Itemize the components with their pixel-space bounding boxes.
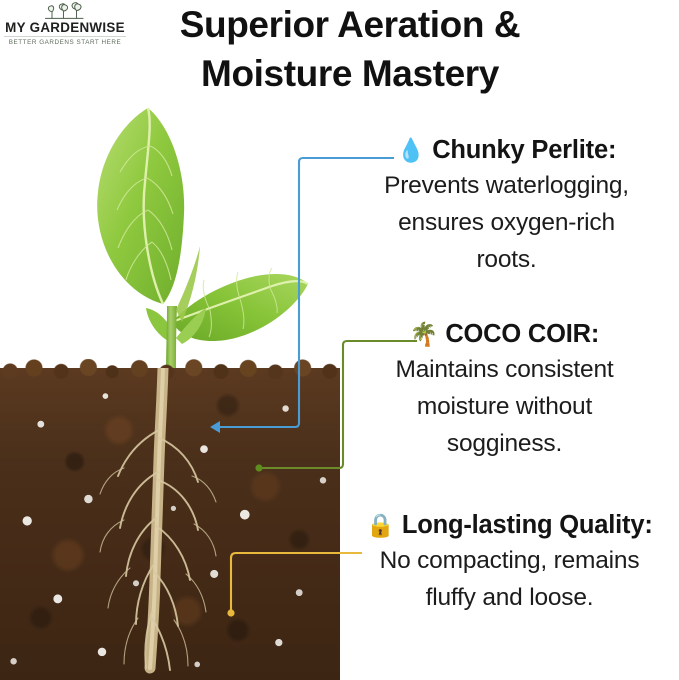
brand-logo: MY GARDENWISE BETTER GARDENS START HERE [4,2,126,44]
feature-heading-row: 💧 Chunky Perlite: [334,134,679,167]
feature-body-line: fluffy and loose. [340,579,679,616]
feature-body-line: ensures oxygen-rich [334,204,679,241]
feature-body: No compacting, remains fluffy and loose. [340,542,679,616]
feature-body-line: sogginess. [330,425,679,462]
feature-body: Prevents waterlogging, ensures oxygen-ri… [334,167,679,278]
feature-body: Maintains consistent moisture without so… [330,351,679,462]
logo-divider [4,36,126,37]
feature-heading-row: 🔒 Long-lasting Quality: [340,509,679,542]
feature-body-line: No compacting, remains [340,542,679,579]
feature-body-line: moisture without [330,388,679,425]
feature-heading-row: 🌴 COCO COIR: [330,318,679,351]
feature-chunky-perlite: 💧 Chunky Perlite: Prevents waterlogging,… [334,134,679,278]
lock-icon: 🔒 [366,514,394,537]
infographic-canvas: MY GARDENWISE BETTER GARDENS START HERE … [0,0,679,680]
feature-body-line: Maintains consistent [330,351,679,388]
feature-long-lasting-quality: 🔒 Long-lasting Quality: No compacting, r… [340,509,679,616]
page-title: Superior Aeration & Moisture Mastery [130,0,570,98]
seedling-illustration [0,86,340,386]
palm-tree-icon: 🌴 [410,323,438,346]
feature-body-line: roots. [334,241,679,278]
headline-line-1: Superior Aeration & [130,0,570,49]
garden-plants-icon [16,2,114,20]
logo-tagline: BETTER GARDENS START HERE [4,38,126,47]
feature-heading: Long-lasting Quality: [402,509,653,542]
product-photo [0,86,340,680]
feature-heading: COCO COIR: [445,318,599,351]
logo-brand-name: MY GARDENWISE [4,20,126,35]
feature-heading: Chunky Perlite: [432,134,616,167]
water-drop-icon: 💧 [397,139,425,162]
feature-body-line: Prevents waterlogging, [334,167,679,204]
root-system [0,368,340,680]
feature-coco-coir: 🌴 COCO COIR: Maintains consistent moistu… [330,318,679,462]
